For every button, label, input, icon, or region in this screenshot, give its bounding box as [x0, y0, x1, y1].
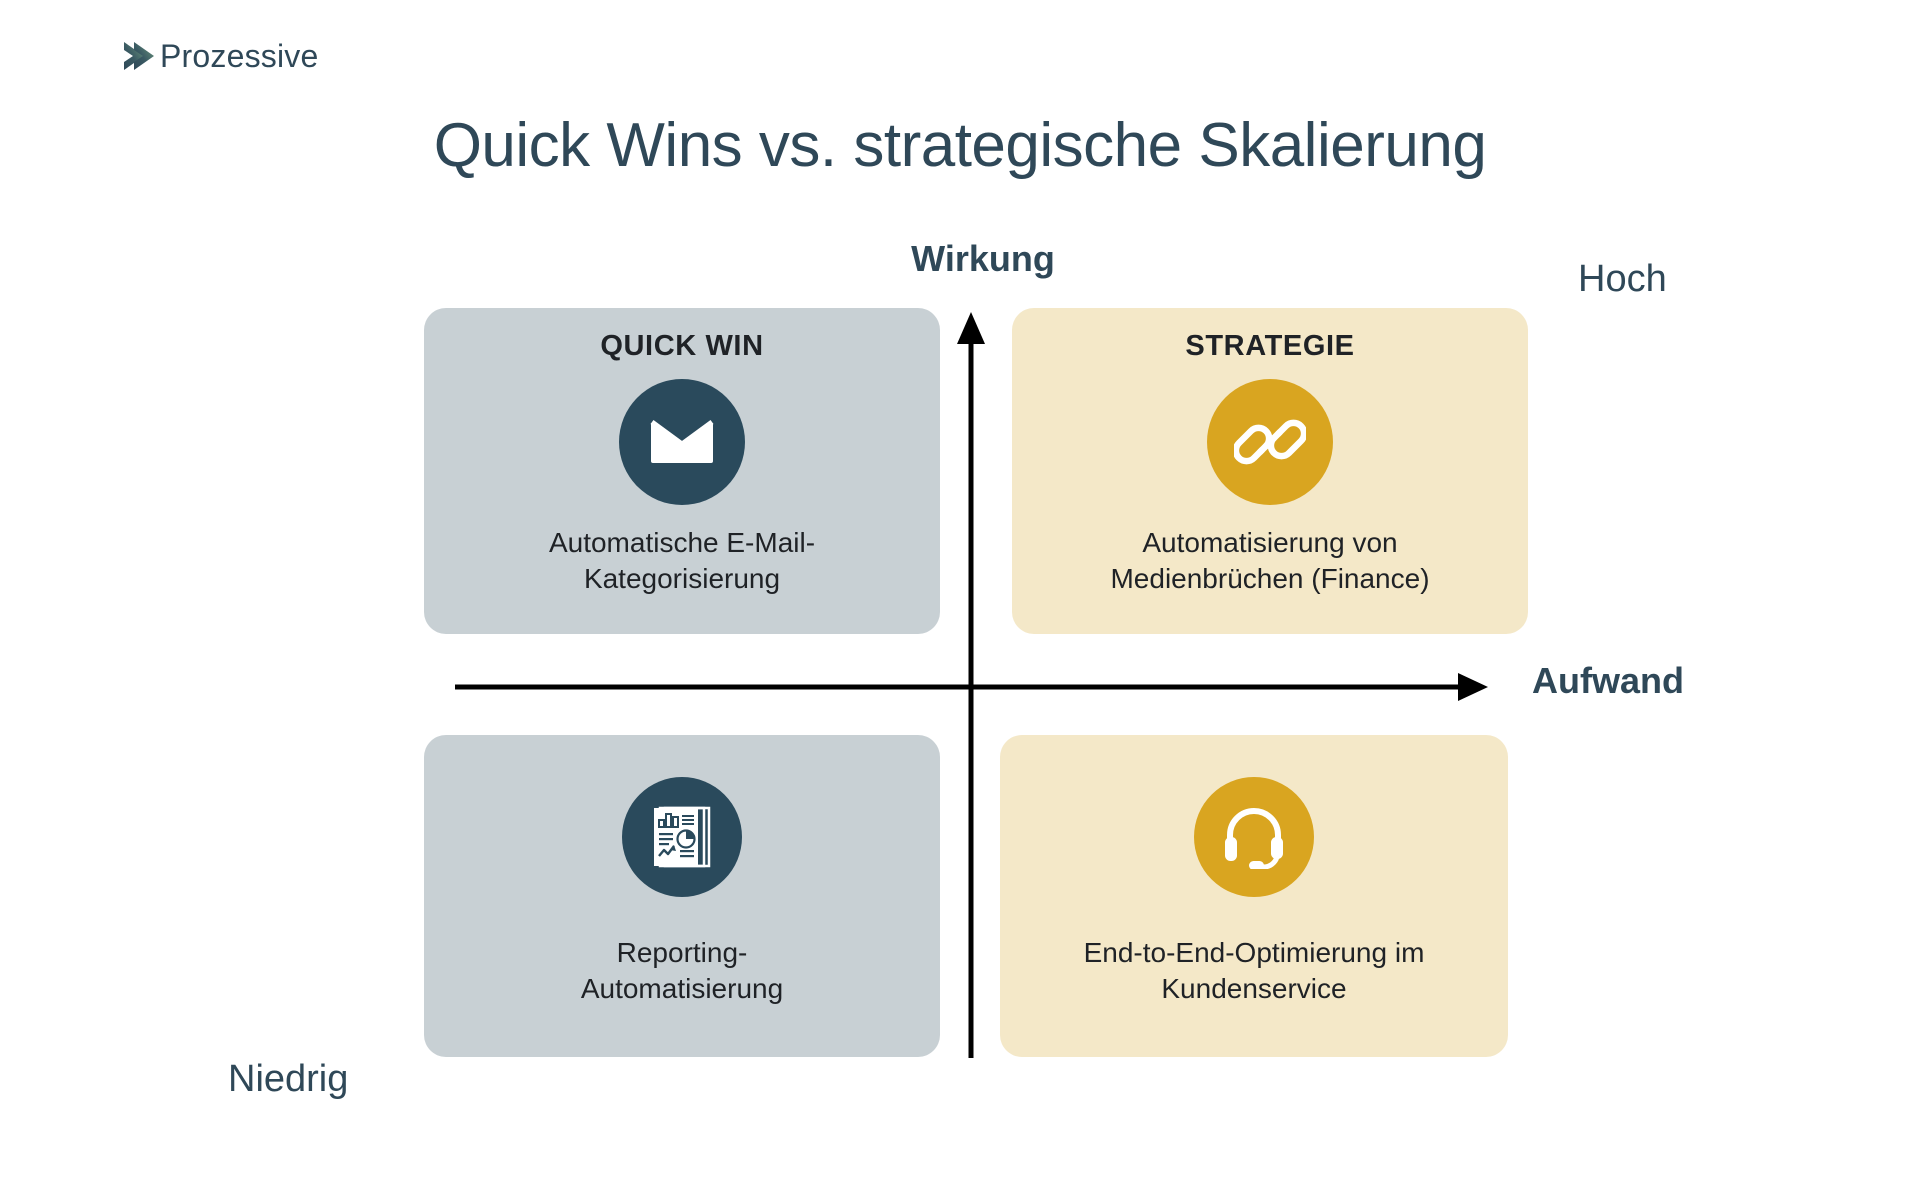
quadrant-text-quick-win: Automatische E-Mail- Kategorisierung	[549, 525, 815, 597]
axes-group	[0, 0, 1920, 1200]
icon-badge-strategie	[1207, 379, 1333, 505]
x-axis-label: Aufwand	[1532, 660, 1684, 702]
scale-label-high: Hoch	[1578, 258, 1667, 301]
quadrant-tag-quick-win: QUICK WIN	[600, 330, 763, 363]
quadrant-text-line1: End-to-End-Optimierung im	[1084, 937, 1425, 968]
quadrant-text-line1: Reporting-	[617, 937, 748, 968]
report-document-icon	[651, 804, 713, 870]
quadrant-text-line1: Automatische E-Mail-	[549, 527, 815, 558]
icon-badge-reporting	[622, 777, 742, 897]
slide-canvas: Prozessive Quick Wins vs. strategische S…	[0, 0, 1920, 1200]
quadrant-text-line1: Automatisierung von	[1142, 527, 1397, 558]
icon-badge-kundenservice	[1194, 777, 1314, 897]
headset-icon	[1220, 805, 1288, 869]
quadrant-card-strategie[interactable]: STRATEGIE Automatisierung von Medienbrüc…	[1012, 308, 1528, 634]
quadrant-text-line2: Kategorisierung	[584, 563, 780, 594]
envelope-icon	[649, 417, 715, 467]
quadrant-card-reporting[interactable]: Reporting- Automatisierung	[424, 735, 940, 1057]
quadrant-card-quick-win[interactable]: QUICK WIN Automatische E-Mail- Kategoris…	[424, 308, 940, 634]
quadrant-text-kundenservice: End-to-End-Optimierung im Kundenservice	[1084, 935, 1425, 1007]
quadrant-text-line2: Kundenservice	[1161, 973, 1346, 1004]
quadrant-text-reporting: Reporting- Automatisierung	[581, 935, 783, 1007]
quadrant-text-strategie: Automatisierung von Medienbrüchen (Finan…	[1110, 525, 1429, 597]
scale-label-low: Niedrig	[228, 1058, 348, 1101]
quadrant-text-line2: Medienbrüchen (Finance)	[1110, 563, 1429, 594]
quadrant-card-kundenservice[interactable]: End-to-End-Optimierung im Kundenservice	[1000, 735, 1508, 1057]
link-chain-icon	[1234, 406, 1306, 478]
y-axis-label: Wirkung	[873, 238, 1093, 280]
icon-badge-quick-win	[619, 379, 745, 505]
quadrant-text-line2: Automatisierung	[581, 973, 783, 1004]
quadrant-tag-strategie: STRATEGIE	[1185, 330, 1354, 363]
